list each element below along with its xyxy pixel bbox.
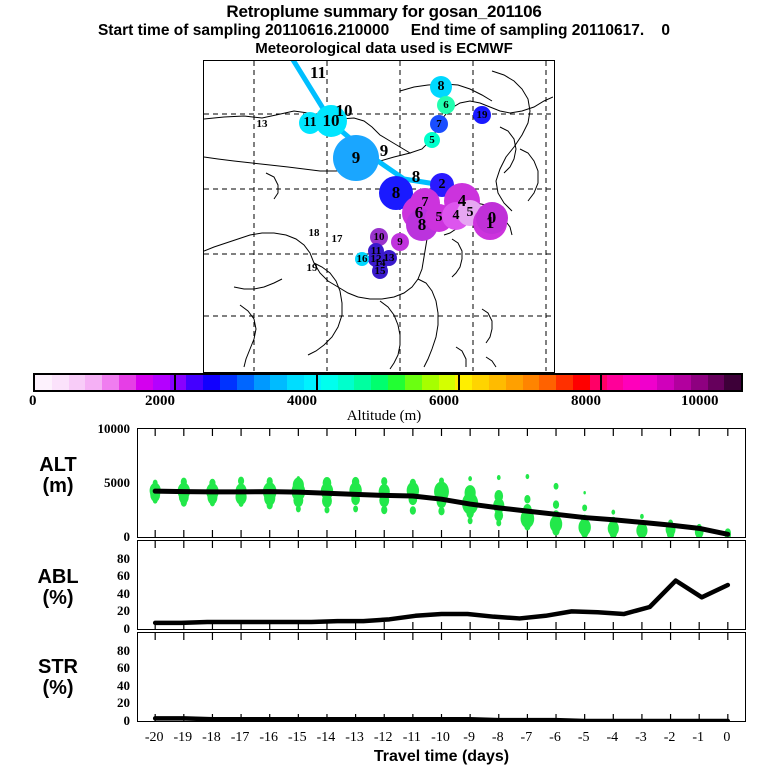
y-axis-tick: 40	[60, 586, 130, 602]
colorbar-swatch	[439, 375, 456, 390]
map-blob	[424, 132, 440, 148]
x-axis-tick: -13	[345, 730, 364, 746]
alt-scatter-point	[552, 525, 559, 535]
y-axis-tick: 20	[60, 603, 130, 619]
colorbar-separator	[174, 373, 176, 392]
colorbar-swatch	[304, 375, 321, 390]
colorbar-swatch	[153, 375, 170, 390]
x-axis-tick: 0	[723, 730, 730, 746]
x-axis-tick: -11	[403, 730, 421, 746]
colorbar-swatch	[136, 375, 153, 390]
y-axis-tick: 0	[60, 621, 130, 637]
colorbar-swatch	[371, 375, 388, 390]
colorbar-swatch	[338, 375, 355, 390]
colorbar-swatch	[186, 375, 203, 390]
alt-scatter-point	[210, 500, 215, 507]
y-axis-tick: 0	[60, 713, 130, 729]
map-blob	[372, 263, 388, 279]
colorbar-swatch	[607, 375, 624, 390]
alt-scatter-point	[267, 501, 273, 510]
colorbar-swatch	[119, 375, 136, 390]
x-axis-tick: -20	[145, 730, 164, 746]
map-blob	[430, 76, 452, 98]
str-timeseries-panel[interactable]	[137, 632, 746, 722]
alt-scatter-point	[524, 495, 530, 504]
header-block: Retroplume summary for gosan_201106 Star…	[0, 2, 768, 58]
colorbar-swatch	[674, 375, 691, 390]
map-blob	[430, 115, 448, 133]
map-blob	[333, 135, 379, 181]
alt-scatter-point	[381, 506, 387, 515]
map-blob	[473, 106, 491, 124]
colorbar-swatch	[102, 375, 119, 390]
colorbar-swatch	[724, 375, 741, 390]
alt-scatter-point	[554, 483, 559, 490]
colorbar-swatch	[539, 375, 556, 390]
alt-scatter-point	[293, 493, 303, 507]
x-axis-tick: -16	[259, 730, 278, 746]
alt-scatter-point	[468, 517, 473, 524]
abl-graphics	[138, 541, 745, 629]
colorbar-swatch	[388, 375, 405, 390]
alt-scatter-point	[468, 476, 472, 481]
altitude-colorbar[interactable]	[33, 373, 743, 392]
map-blob	[355, 252, 369, 266]
alt-scatter-point	[583, 491, 585, 494]
colorbar-swatch	[506, 375, 523, 390]
colorbar-swatch	[523, 375, 540, 390]
alt-scatter-point	[296, 506, 301, 513]
sampling-time-subtitle: Start time of sampling 20110616.210000 E…	[0, 21, 768, 40]
x-axis-tick: -17	[231, 730, 250, 746]
alt-scatter-point	[553, 500, 559, 509]
alt-scatter-point	[524, 522, 530, 531]
x-axis-tick: -5	[578, 730, 590, 746]
colorbar-swatch	[573, 375, 590, 390]
alt-scatter-point	[466, 508, 473, 518]
x-axis-title: Travel time (days)	[137, 748, 746, 766]
colorbar-separator	[316, 373, 318, 392]
met-data-line: Meteorological data used is ECMWF	[0, 40, 768, 58]
x-axis-tick: -10	[431, 730, 450, 746]
alt-scatter-point	[239, 500, 244, 507]
map-blob	[315, 105, 347, 137]
colorbar-swatch	[472, 375, 489, 390]
colorbar-swatch	[640, 375, 657, 390]
y-axis-tick: 5000	[60, 475, 130, 491]
page-title: Retroplume summary for gosan_201106	[0, 2, 768, 21]
colorbar-swatch	[220, 375, 237, 390]
colorbar-swatch	[489, 375, 506, 390]
colorbar-swatch	[657, 375, 674, 390]
y-axis-tick: 60	[60, 660, 130, 676]
y-axis-tick: 60	[60, 568, 130, 584]
x-axis-tick: -19	[173, 730, 192, 746]
x-axis-tick: -2	[664, 730, 676, 746]
y-axis-tick: 40	[60, 678, 130, 694]
x-axis-tick: -12	[374, 730, 393, 746]
colorbar-swatch	[203, 375, 220, 390]
alt-label-line1: ALT	[8, 455, 108, 476]
colorbar-swatch	[590, 375, 607, 390]
colorbar-swatch	[270, 375, 287, 390]
colorbar-swatch	[422, 375, 439, 390]
x-axis-tick: -14	[317, 730, 336, 746]
map-blob	[391, 233, 409, 251]
colorbar-swatch	[35, 375, 52, 390]
alt-timeseries-panel[interactable]	[137, 428, 746, 538]
colorbar-swatch	[170, 375, 187, 390]
map-blob	[437, 96, 455, 114]
abl-line	[155, 581, 728, 623]
x-axis-tick: -4	[606, 730, 618, 746]
alt-scatter-point	[582, 504, 587, 511]
alt-scatter-point	[640, 514, 644, 519]
colorbar-separator	[600, 373, 602, 392]
alt-scatter-point	[611, 510, 615, 515]
alt-scatter-point	[181, 498, 187, 507]
colorbar-swatch	[405, 375, 422, 390]
alt-scatter-point	[496, 520, 501, 527]
colorbar-swatch	[85, 375, 102, 390]
colorbar-swatch	[623, 375, 640, 390]
alt-scatter-point	[410, 506, 416, 514]
colorbar-swatch	[691, 375, 708, 390]
x-axis-tick: -8	[492, 730, 504, 746]
x-axis-tick: -15	[288, 730, 307, 746]
alt-scatter-point	[497, 475, 501, 480]
x-axis-tick: -3	[635, 730, 647, 746]
y-axis-tick: 10000	[60, 421, 130, 437]
alt-scatter-point	[526, 474, 530, 479]
retroplume-map[interactable]: 1311109865719827685445101817191091112131…	[203, 60, 555, 373]
colorbar-swatch	[354, 375, 371, 390]
x-axis-tick: -18	[202, 730, 221, 746]
alt-scatter-point	[322, 494, 332, 508]
colorbar-swatch	[708, 375, 725, 390]
alt-scatter-points	[150, 474, 731, 537]
y-axis-tick: 80	[60, 643, 130, 659]
colorbar-swatch	[556, 375, 573, 390]
y-axis-tick: 20	[60, 695, 130, 711]
colorbar-swatch	[237, 375, 254, 390]
x-axis-tick: -9	[463, 730, 475, 746]
x-axis-tick: -7	[521, 730, 533, 746]
abl-timeseries-panel[interactable]	[137, 540, 746, 630]
str-line	[155, 718, 728, 721]
alt-scatter-point	[153, 497, 158, 504]
map-blob	[476, 202, 508, 234]
y-axis-tick: 0	[60, 529, 130, 545]
colorbar-swatch	[52, 375, 69, 390]
y-axis-tick: 80	[60, 551, 130, 567]
colorbar-gradient	[33, 373, 743, 392]
colorbar-swatch	[69, 375, 86, 390]
x-axis-tick: -1	[692, 730, 704, 746]
x-axis-tick: -6	[549, 730, 561, 746]
str-graphics	[138, 633, 745, 721]
colorbar-separator	[458, 373, 460, 392]
alt-graphics	[138, 429, 745, 537]
colorbar-swatch	[321, 375, 338, 390]
colorbar-swatch	[254, 375, 271, 390]
alt-scatter-point	[438, 507, 444, 516]
colorbar-swatch	[287, 375, 304, 390]
alt-scatter-point	[353, 506, 358, 513]
alt-scatter-point	[324, 507, 329, 514]
str-axis-ticks	[155, 633, 728, 721]
